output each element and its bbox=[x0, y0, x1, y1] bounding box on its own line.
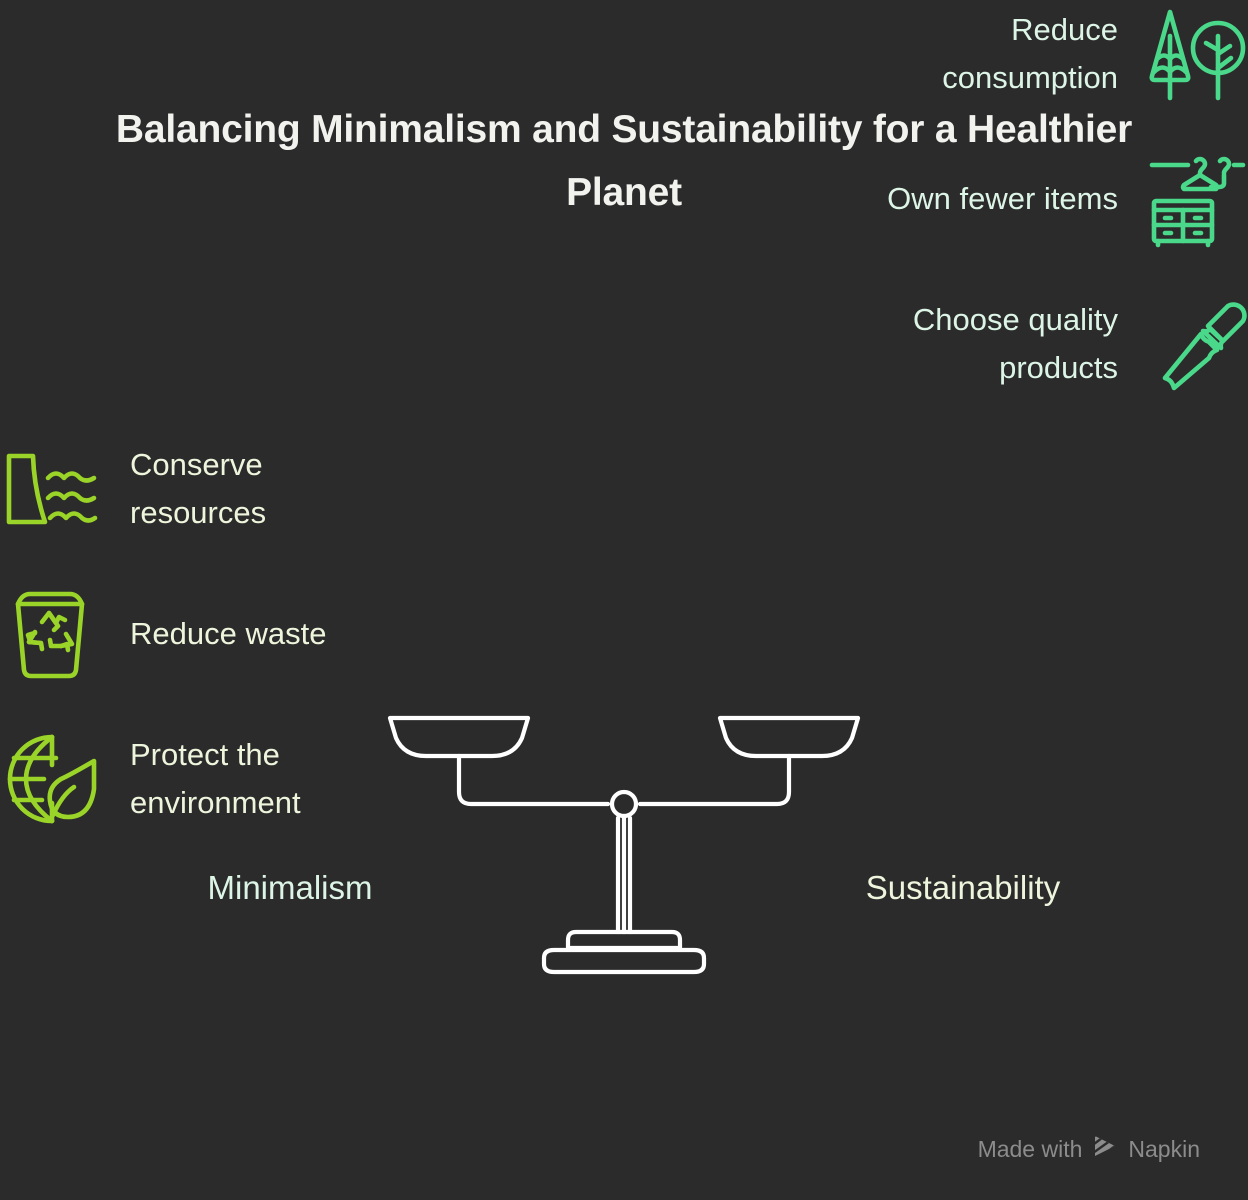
balance-scale bbox=[368, 700, 880, 980]
dam-water-icon bbox=[0, 439, 104, 539]
right-column: Conserve resources bbox=[0, 435, 430, 833]
list-item-reduce-consumption[interactable]: Reduce consumption bbox=[0, 0, 1248, 108]
watermark-brand: Napkin bbox=[1128, 1136, 1200, 1163]
infographic-canvas: Balancing Minimalism and Sustainability … bbox=[0, 0, 1248, 1200]
wardrobe-dresser-icon bbox=[1144, 149, 1248, 249]
page-title: Balancing Minimalism and Sustainability … bbox=[104, 98, 1144, 224]
chisel-icon bbox=[1144, 294, 1248, 394]
napkin-logo-icon bbox=[1092, 1134, 1118, 1164]
item-label: Reduce consumption bbox=[942, 6, 1118, 102]
caption-minimalism: Minimalism bbox=[60, 865, 520, 911]
caption-sustainability: Sustainability bbox=[738, 865, 1188, 911]
list-item-choose-quality-products[interactable]: Choose quality products bbox=[0, 290, 1248, 398]
item-label: Choose quality products bbox=[913, 296, 1118, 392]
trees-icon bbox=[1144, 4, 1248, 104]
item-label: Conserve resources bbox=[130, 441, 266, 537]
list-item-protect-the-environment[interactable]: Protect the environment bbox=[0, 725, 430, 833]
globe-leaf-icon bbox=[0, 729, 104, 829]
item-label: Protect the environment bbox=[130, 731, 301, 827]
item-label: Reduce waste bbox=[130, 610, 326, 658]
list-item-conserve-resources[interactable]: Conserve resources bbox=[0, 435, 430, 543]
list-item-reduce-waste[interactable]: Reduce waste bbox=[0, 580, 430, 688]
watermark-prefix: Made with bbox=[978, 1136, 1083, 1163]
watermark[interactable]: Made with bbox=[978, 1134, 1200, 1164]
recycle-bin-icon bbox=[0, 584, 104, 684]
